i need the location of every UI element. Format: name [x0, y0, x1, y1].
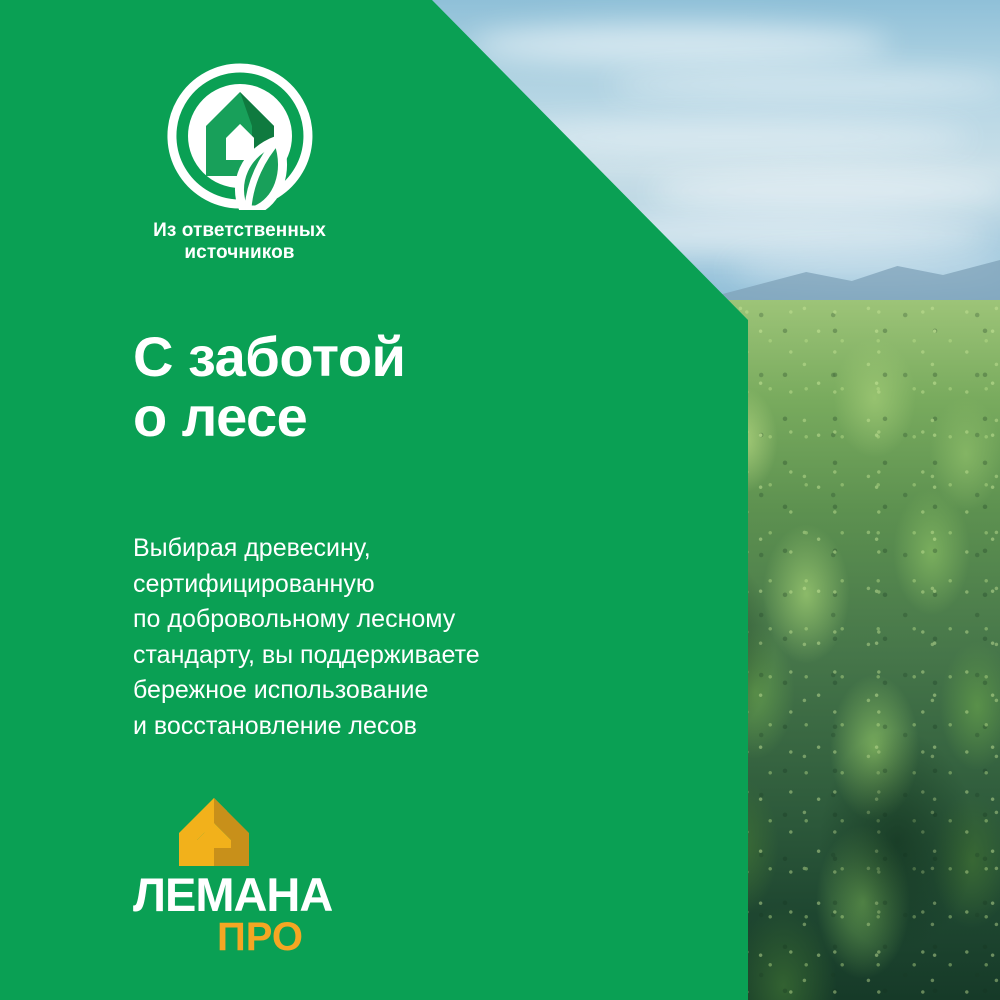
body-paragraph: Выбирая древесину, сертифицированную по …: [133, 531, 480, 744]
eco-badge-caption: Из ответственных источников: [132, 220, 347, 264]
poster-root: Из ответственных источников С заботой о …: [0, 0, 1000, 1000]
brand-subname: ПРО: [133, 918, 303, 957]
cloud-band: [650, 170, 1000, 212]
cloud-band: [470, 24, 890, 64]
eco-certification-badge: Из ответственных источников: [132, 62, 347, 264]
house-leaf-circle-icon: [166, 62, 314, 210]
cloud-band: [610, 70, 1000, 100]
eco-badge-caption-line2: источников: [132, 242, 347, 264]
page-title: С заботой о лесе: [133, 327, 405, 448]
eco-badge-caption-line1: Из ответственных: [132, 220, 347, 242]
brand-lockup: ЛЕМАНА ПРО: [133, 796, 313, 957]
lemana-house-icon: [175, 796, 253, 868]
brand-name: ЛЕМАНА: [133, 872, 313, 917]
